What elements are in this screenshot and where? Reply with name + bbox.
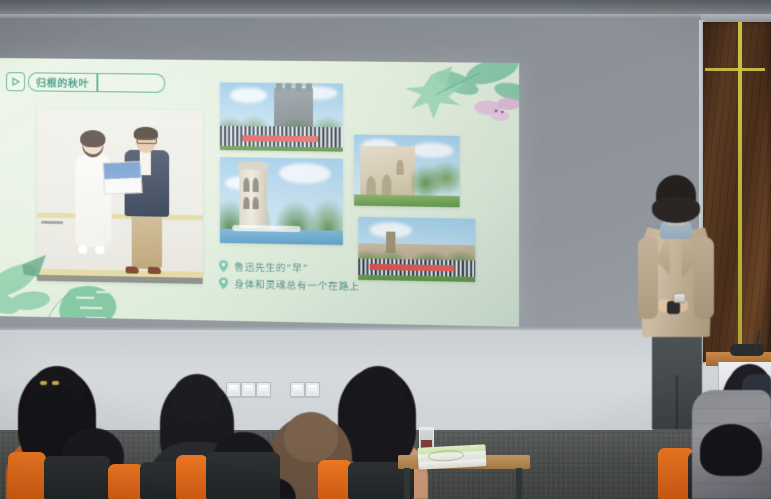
seat-back [176,455,208,499]
location-pin-icon [219,260,228,272]
wall-socket-3[interactable] [256,382,271,397]
caption-text: 身体和灵魂总有一个在路上 [234,276,359,293]
table-leg [516,468,522,499]
stone-building-photo [354,135,460,208]
wall-socket-4[interactable] [290,382,305,397]
seat-back [8,452,46,499]
location-pin-icon [219,277,228,289]
photo-certificate [103,161,143,195]
screenshot-root: 归根的秋叶 [0,0,771,499]
podium-device [730,344,764,356]
audience-member-8-head [700,424,762,476]
seat-back [44,456,110,499]
wall-socket-2[interactable] [241,382,256,397]
monstera-leaf-bottom-left-icon [0,234,125,327]
table-leg [404,468,410,499]
presenter-arm-left [638,237,658,319]
seat-back [206,452,280,499]
title-divider [96,74,98,91]
slide-title-pill: 归根的秋叶 [28,72,165,93]
group-photo-campus [358,217,475,282]
wall-socket-5[interactable] [305,382,320,397]
projection-screen: 归根的秋叶 [0,58,519,327]
gold-trim-horizontal [705,68,765,71]
caption-row: 身体和灵魂总有一个在路上 [219,275,360,293]
slide-title-badge: 归根的秋叶 [6,73,165,92]
presenter-arm-right [694,237,714,319]
presenter-wristwatch [673,293,686,303]
wall-socket-1[interactable] [226,382,241,397]
photo-person-man [120,130,179,276]
bell-tower-photo [220,157,343,245]
slide-title: 归根的秋叶 [36,74,89,90]
stack-of-booklets [417,444,486,470]
seat-back [108,464,144,499]
caption-text: 鲁迅先生的“早” [234,259,308,275]
seat-back [318,460,352,499]
gold-trim-vertical [738,22,742,352]
group-photo-castle [220,82,343,151]
tropical-leaf-top-right-icon [380,58,519,135]
hair-clip-icon [40,381,47,385]
hair-clip-icon [52,381,59,385]
slide-captions: 鲁迅先生的“早” 身体和灵魂总有一个在路上 [219,258,360,295]
pink-blossom-icon [474,97,519,121]
caption-row: 鲁迅先生的“早” [219,258,360,276]
play-triangle-icon [6,72,25,91]
